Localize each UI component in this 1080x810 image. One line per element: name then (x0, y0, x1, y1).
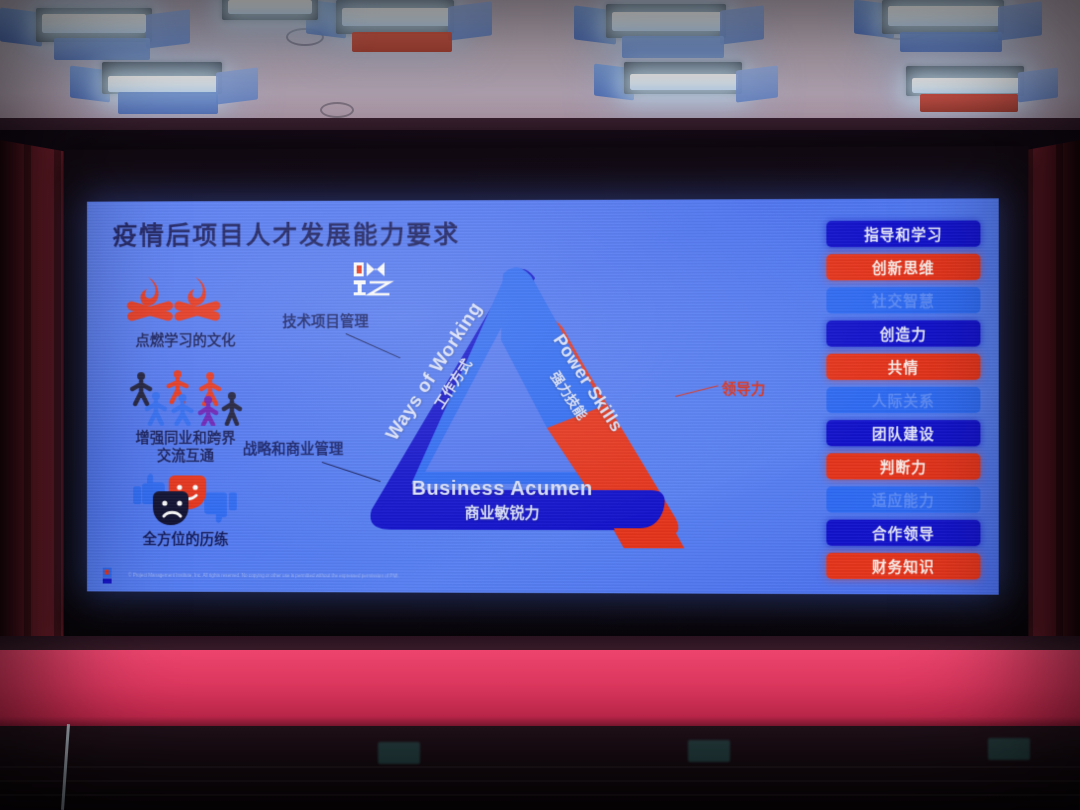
annotation-strategy-business: 战略和商业管理 (243, 438, 344, 459)
campfire-icon (107, 271, 265, 329)
feature-caption: 点燃学习的文化 (107, 332, 265, 350)
ceiling-light-8 (222, 0, 342, 30)
ceiling-light-4 (600, 4, 750, 50)
presentation-slide[interactable]: 疫情后项目人才发展能力要求 点燃学习的文化 (87, 198, 999, 594)
barn-door-bottom (352, 32, 452, 52)
ceiling-light-1 (28, 6, 176, 50)
seat-row (0, 766, 1080, 768)
exit-sign-glow (688, 740, 730, 762)
light-tube (912, 78, 1020, 93)
barn-door-right (1018, 68, 1058, 103)
feature-cross-industry-exchange: 增强同业和跨界 交流互通 (107, 368, 265, 466)
copyright-notice: © Project Management Institute, Inc. All… (103, 568, 399, 585)
feature-all-round-experience: 全方位的历练 (107, 469, 265, 549)
light-tube (342, 8, 450, 26)
ceiling-light-3 (330, 0, 480, 48)
chip-team-building[interactable]: 团队建设 (826, 420, 980, 446)
barn-door-bottom (622, 36, 724, 58)
seat-row (0, 780, 1080, 782)
light-tube (42, 14, 146, 33)
feature-caption-line1: 增强同业和跨界 (135, 431, 235, 447)
barn-door-bottom (118, 92, 218, 114)
curtain-fold (1056, 140, 1063, 660)
exit-sign-glow (988, 738, 1030, 760)
feature-caption: 增强同业和跨界 交流互通 (107, 430, 265, 466)
chip-adaptability[interactable]: 适应能力 (826, 486, 980, 512)
business-acumen-zh: 商业敏锐力 (378, 502, 628, 524)
ceiling-light-2 (96, 62, 246, 106)
ceiling-light-7 (900, 66, 1050, 108)
copyright-text: © Project Management Institute, Inc. All… (128, 572, 399, 580)
pmi-footer-logo (103, 568, 123, 584)
ceiling (0, 0, 1080, 132)
light-tube (228, 0, 312, 14)
stage-apron-lit (0, 650, 1080, 728)
exit-sign-glow (378, 742, 420, 764)
pmi-talent-triangle[interactable]: Ways of Working 工作方式 Power Skills 强力技能 B… (352, 260, 692, 549)
barn-door-bottom (900, 32, 1002, 52)
barn-door-right (736, 65, 778, 102)
barn-door-bottom (54, 38, 150, 60)
chip-empathy[interactable]: 共情 (826, 354, 980, 380)
business-acumen-en: Business Acumen (378, 478, 628, 501)
people-network-icon (107, 368, 265, 426)
light-tube (612, 12, 722, 31)
ceiling-ring-2 (320, 102, 354, 118)
curtain-fold (54, 140, 61, 660)
chip-interpersonal[interactable]: 人际关系 (826, 387, 980, 413)
barn-door-right (998, 1, 1042, 40)
light-tube (888, 6, 1000, 26)
feature-caption: 全方位的历练 (107, 531, 265, 549)
annotation-leadership: 领导力 (722, 378, 766, 399)
chip-innovative-thinking[interactable]: 创新思维 (826, 254, 980, 281)
light-tube (630, 74, 738, 90)
light-tube (108, 76, 218, 92)
triangle-label-business-acumen: Business Acumen 商业敏锐力 (378, 478, 628, 523)
auditorium-photo: 疫情后项目人才发展能力要求 点燃学习的文化 (0, 0, 1080, 810)
barn-door-right (146, 9, 190, 48)
curtain-fold (24, 140, 31, 660)
chip-judgment[interactable]: 判断力 (826, 453, 980, 479)
chip-collaborative-lead[interactable]: 合作领导 (826, 520, 980, 547)
feature-ignite-learning: 点燃学习的文化 (107, 271, 265, 351)
page-title: 疫情后项目人才发展能力要求 (113, 215, 461, 252)
ceiling-light-5 (618, 62, 768, 106)
feedback-masks-icon (107, 469, 265, 527)
audience-seating-dark (0, 726, 1080, 810)
chip-social-intelligence[interactable]: 社交智慧 (826, 287, 980, 313)
barn-door-right (216, 67, 258, 104)
chip-creativity[interactable]: 创造力 (826, 320, 980, 346)
barn-door-bottom (920, 94, 1018, 112)
barn-door-right (720, 5, 764, 44)
barn-door-right (448, 1, 492, 40)
barn-door-bottom (640, 92, 740, 112)
chip-mentoring-learning[interactable]: 指导和学习 (826, 221, 980, 248)
pmi-logo (352, 260, 398, 296)
feature-caption-line2: 交流互通 (157, 449, 214, 465)
seat-row (0, 794, 1080, 796)
chip-financial-knowledge[interactable]: 财务知识 (826, 553, 980, 580)
ceiling-light-6 (876, 0, 1032, 46)
competency-chip-list: 指导和学习 创新思维 社交智慧 创造力 共情 人际关系 团队建设 判断力 适应能… (826, 221, 980, 587)
